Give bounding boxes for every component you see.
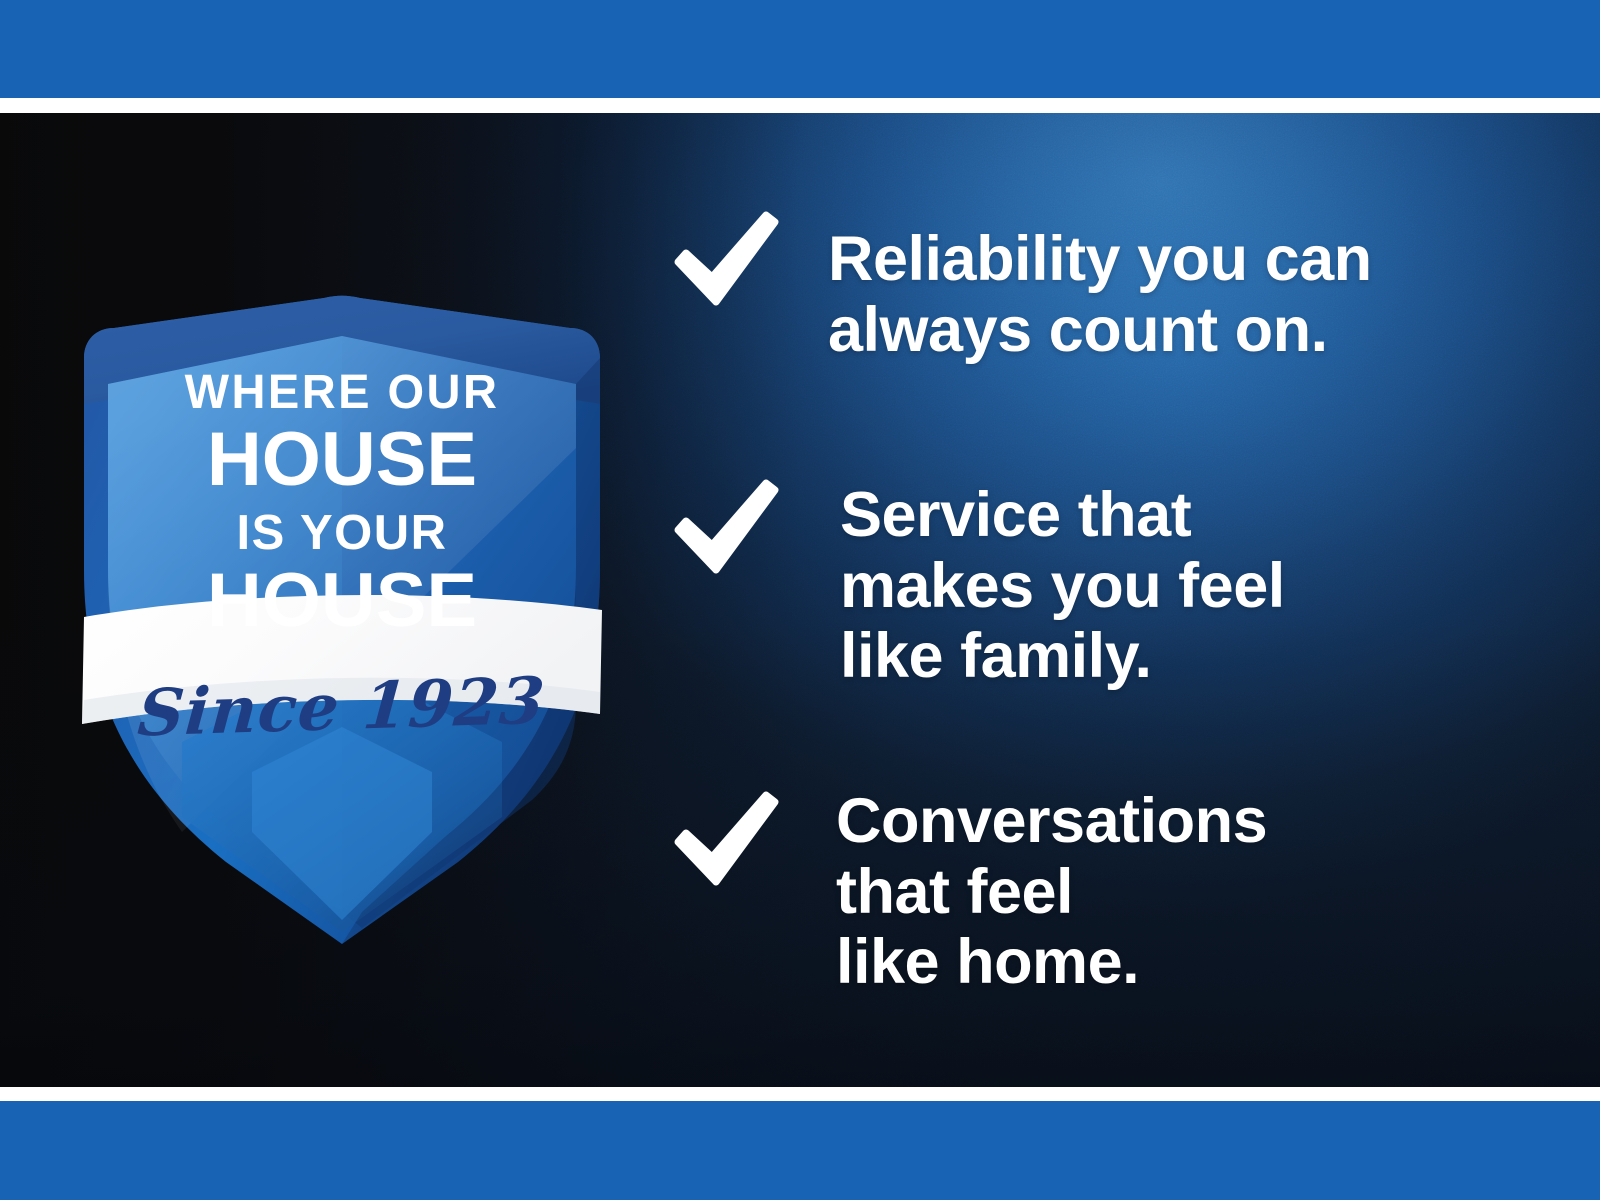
checkmark-icon bbox=[668, 786, 784, 902]
list-item-label: Conversations that feel like home. bbox=[836, 786, 1267, 998]
checkmark-icon bbox=[668, 474, 784, 590]
top-brand-bar bbox=[0, 0, 1600, 98]
bottom-white-divider bbox=[0, 1087, 1600, 1101]
bottom-brand-bar bbox=[0, 1101, 1600, 1200]
top-white-divider bbox=[0, 98, 1600, 113]
list-item-label: Service that makes you feel like family. bbox=[840, 474, 1285, 692]
checkmark-icon bbox=[668, 206, 784, 322]
list-item: Service that makes you feel like family. bbox=[668, 474, 1285, 692]
promo-graphic: WHERE OUR HOUSE IS YOUR HOUSE Since 1923… bbox=[0, 0, 1600, 1200]
list-item: Reliability you can always count on. bbox=[668, 206, 1372, 365]
list-item-label: Reliability you can always count on. bbox=[828, 206, 1372, 365]
shield-logo: WHERE OUR HOUSE IS YOUR HOUSE Since 1923 bbox=[62, 272, 622, 932]
list-item: Conversations that feel like home. bbox=[668, 786, 1267, 998]
